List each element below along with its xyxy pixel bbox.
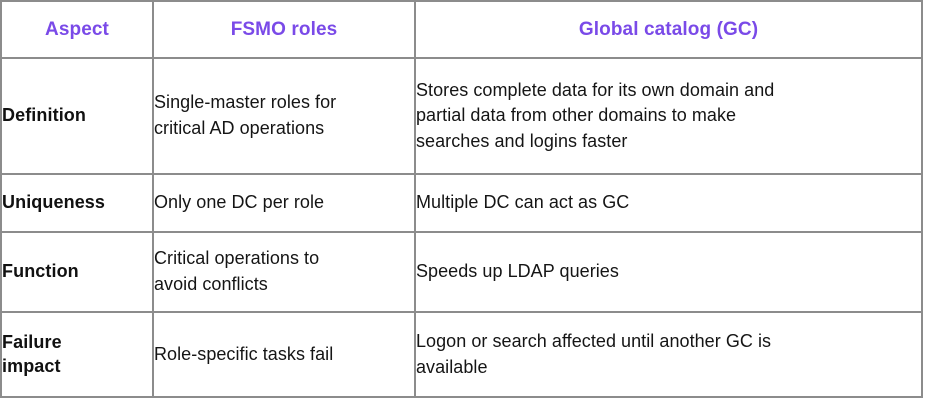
table-body: Definition Single-master roles for criti…	[1, 58, 922, 397]
table-row: Definition Single-master roles for criti…	[1, 58, 922, 174]
cell-gc-function: Speeds up LDAP queries	[415, 232, 922, 312]
cell-text-line: impact	[2, 355, 152, 379]
cell-text-line: available	[416, 355, 921, 381]
cell-text-line: searches and logins faster	[416, 129, 921, 155]
column-header-aspect: Aspect	[1, 1, 153, 58]
cell-aspect-uniqueness: Uniqueness	[1, 174, 153, 232]
cell-text-line: Logon or search affected until another G…	[416, 329, 921, 355]
cell-text-line: Only one DC per role	[154, 190, 414, 216]
fsmo-vs-global-catalog-table: Aspect FSMO roles Global catalog (GC) De…	[0, 0, 923, 398]
column-header-fsmo-roles-label: FSMO roles	[231, 19, 338, 40]
cell-fsmo-uniqueness: Only one DC per role	[153, 174, 415, 232]
column-header-global-catalog-label: Global catalog (GC)	[579, 19, 758, 40]
cell-text-line: Failure	[2, 331, 152, 355]
cell-text-line: Critical operations to	[154, 246, 414, 272]
cell-text: Function	[2, 260, 152, 284]
table-row: Function Critical operations to avoid co…	[1, 232, 922, 312]
cell-text-line: critical AD operations	[154, 116, 414, 142]
cell-fsmo-failure-impact: Role-specific tasks fail	[153, 312, 415, 397]
cell-text-line: partial data from other domains to make	[416, 103, 921, 129]
cell-text-line: Single-master roles for	[154, 90, 414, 116]
cell-text-line: Speeds up LDAP queries	[416, 259, 921, 285]
column-header-aspect-label: Aspect	[45, 19, 109, 40]
cell-aspect-function: Function	[1, 232, 153, 312]
cell-fsmo-definition: Single-master roles for critical AD oper…	[153, 58, 415, 174]
table-header: Aspect FSMO roles Global catalog (GC)	[1, 1, 922, 58]
cell-text: Definition	[2, 104, 152, 128]
cell-gc-definition: Stores complete data for its own domain …	[415, 58, 922, 174]
column-header-global-catalog: Global catalog (GC)	[415, 1, 922, 58]
table-row: Uniqueness Only one DC per role Multiple…	[1, 174, 922, 232]
table-header-row: Aspect FSMO roles Global catalog (GC)	[1, 1, 922, 58]
cell-aspect-failure-impact: Failure impact	[1, 312, 153, 397]
cell-gc-uniqueness: Multiple DC can act as GC	[415, 174, 922, 232]
cell-aspect-definition: Definition	[1, 58, 153, 174]
cell-text-line: Stores complete data for its own domain …	[416, 78, 921, 104]
cell-text-line: avoid conflicts	[154, 272, 414, 298]
cell-text-line: Role-specific tasks fail	[154, 342, 414, 368]
cell-gc-failure-impact: Logon or search affected until another G…	[415, 312, 922, 397]
column-header-fsmo-roles: FSMO roles	[153, 1, 415, 58]
cell-text-line: Multiple DC can act as GC	[416, 190, 921, 216]
cell-text: Uniqueness	[2, 191, 152, 215]
table-row: Failure impact Role-specific tasks fail …	[1, 312, 922, 397]
cell-fsmo-function: Critical operations to avoid conflicts	[153, 232, 415, 312]
